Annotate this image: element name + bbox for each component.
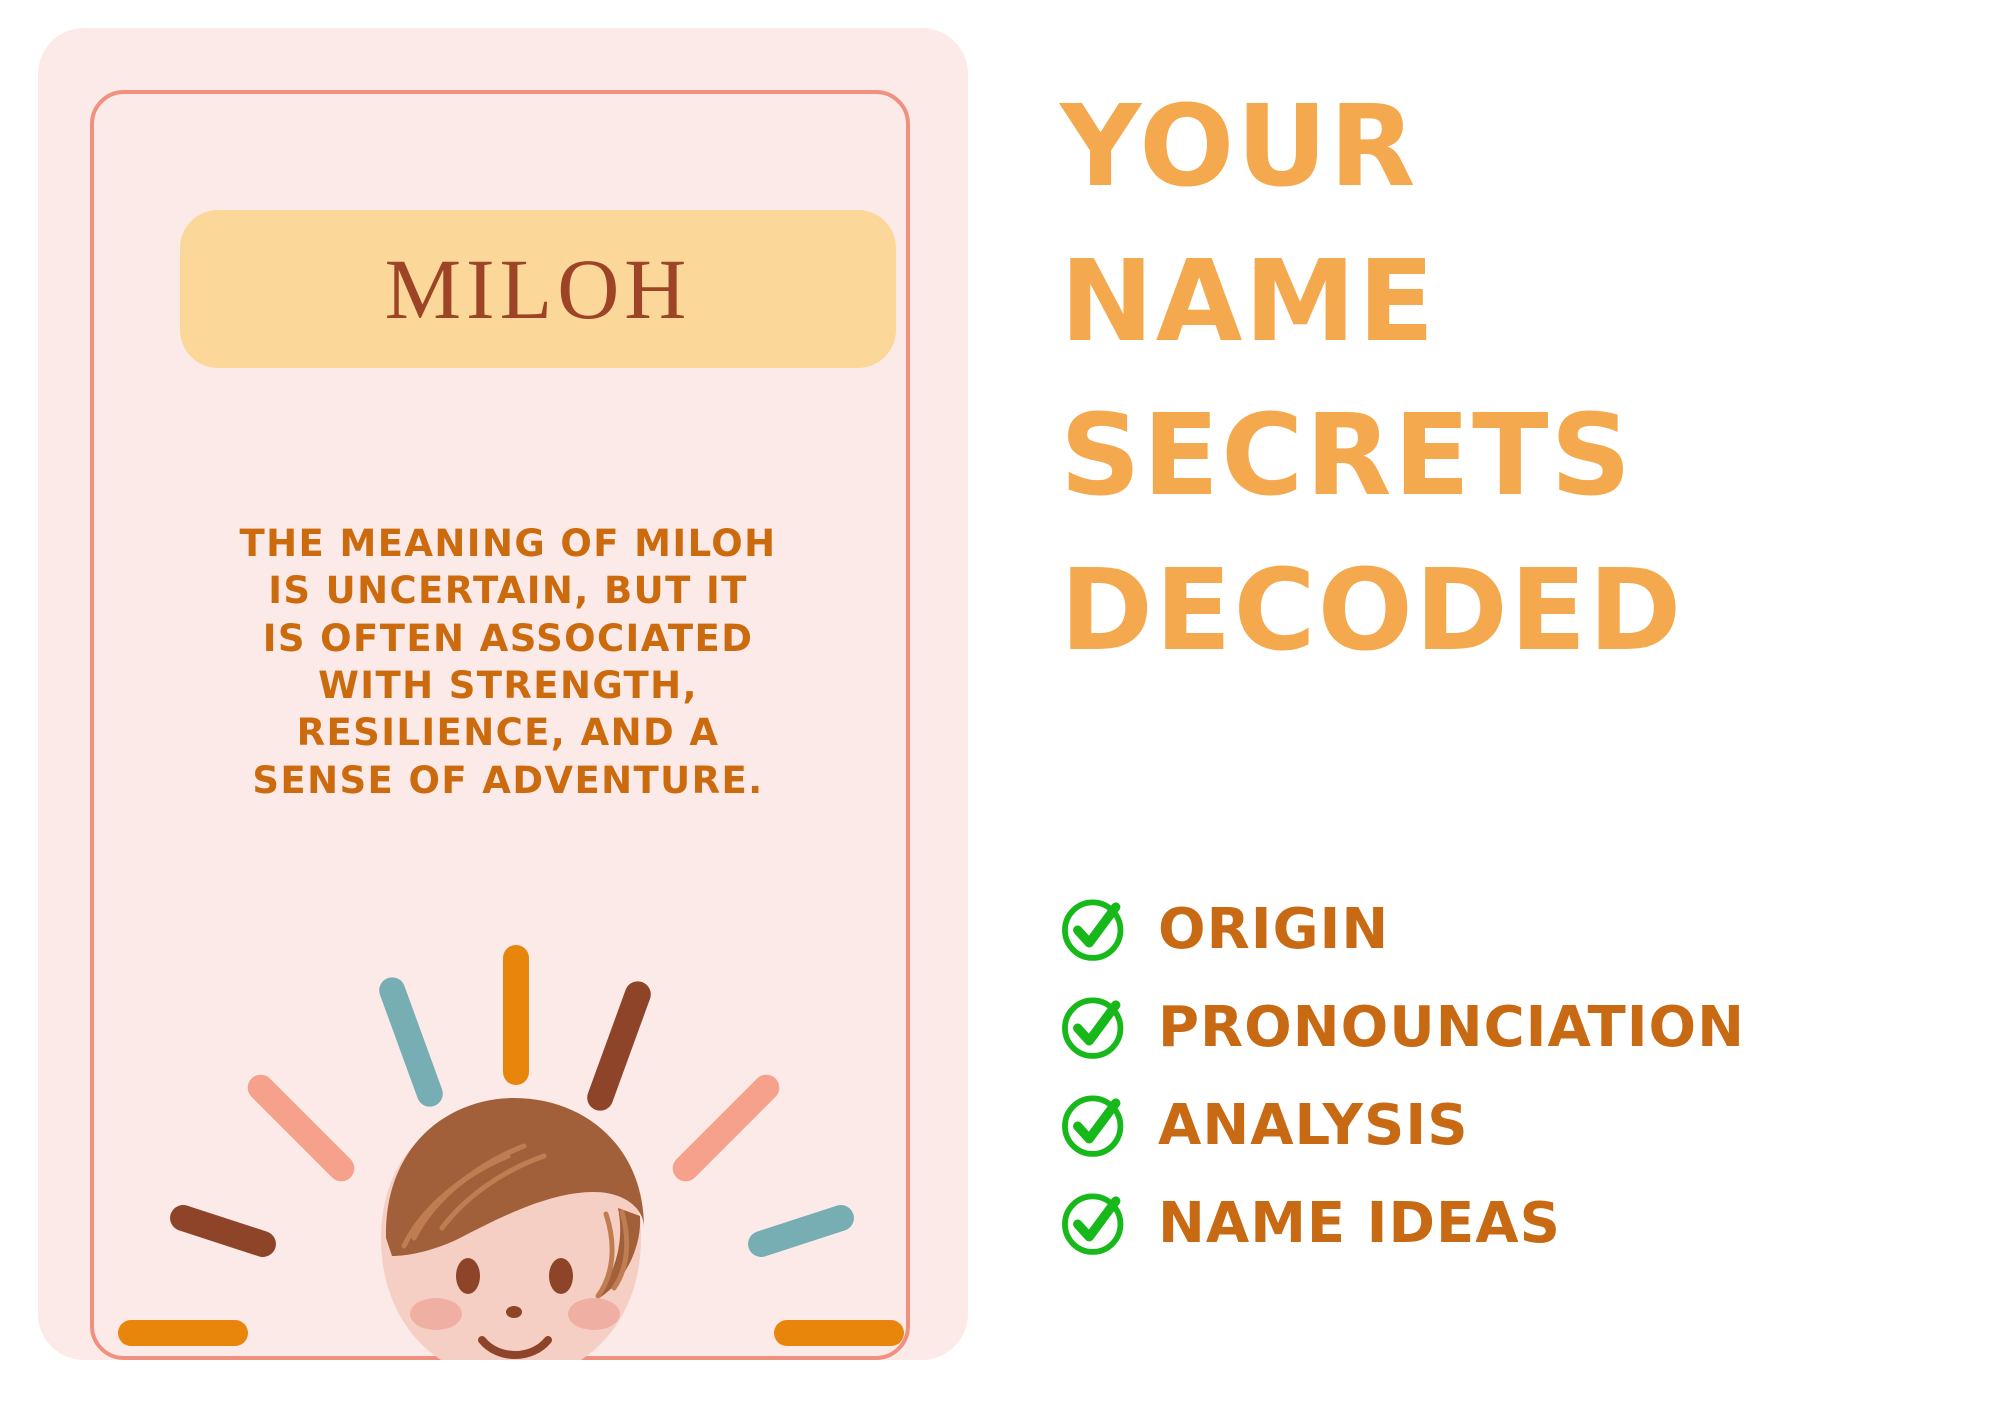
headline-line-4: DECODED [1060, 534, 1920, 689]
sunburst-ray-orange-top [503, 945, 529, 1085]
sunburst-ray-brown-left [167, 1202, 280, 1261]
headline-line-2: NAME [1060, 225, 1920, 380]
headline-line-1: YOUR [1060, 70, 1920, 225]
check-circle-icon [1058, 1186, 1132, 1260]
sunburst-ray-teal-right [745, 1202, 858, 1261]
sunburst-ray-salmon-right [667, 1069, 784, 1186]
checklist-item-analysis: ANALYSIS [1058, 1076, 1958, 1174]
child-face-icon [356, 1088, 666, 1360]
check-circle-icon [1058, 1088, 1132, 1162]
name-card: MILOH THE MEANING OF MILOH IS UNCERTAIN,… [38, 28, 968, 1360]
checklist-label-pronounciation: PRONOUNCIATION [1158, 995, 1745, 1060]
name-badge-text: MILOH [385, 246, 692, 332]
child-face-sunburst-illustration [148, 928, 868, 1360]
checklist-item-origin: ORIGIN [1058, 880, 1958, 978]
sunburst-ray-orange-right [774, 1320, 904, 1346]
headline: YOUR NAME SECRETS DECODED [1060, 70, 1920, 688]
sunburst-ray-orange-left [118, 1320, 248, 1346]
check-circle-icon [1058, 990, 1132, 1064]
feature-checklist: ORIGIN PRONOUNCIATION ANALYSIS NAME IDEA… [1058, 880, 1958, 1272]
checklist-label-name-ideas: NAME IDEAS [1158, 1191, 1561, 1256]
checklist-label-origin: ORIGIN [1158, 897, 1389, 962]
name-meaning-text: THE MEANING OF MILOH IS UNCERTAIN, BUT I… [158, 520, 858, 804]
checklist-item-name-ideas: NAME IDEAS [1058, 1174, 1958, 1272]
name-badge: MILOH [180, 210, 896, 368]
sunburst-ray-salmon-left [242, 1069, 359, 1186]
headline-line-3: SECRETS [1060, 379, 1920, 534]
checklist-label-analysis: ANALYSIS [1158, 1093, 1469, 1158]
checklist-item-pronounciation: PRONOUNCIATION [1058, 978, 1958, 1076]
check-circle-icon [1058, 892, 1132, 966]
